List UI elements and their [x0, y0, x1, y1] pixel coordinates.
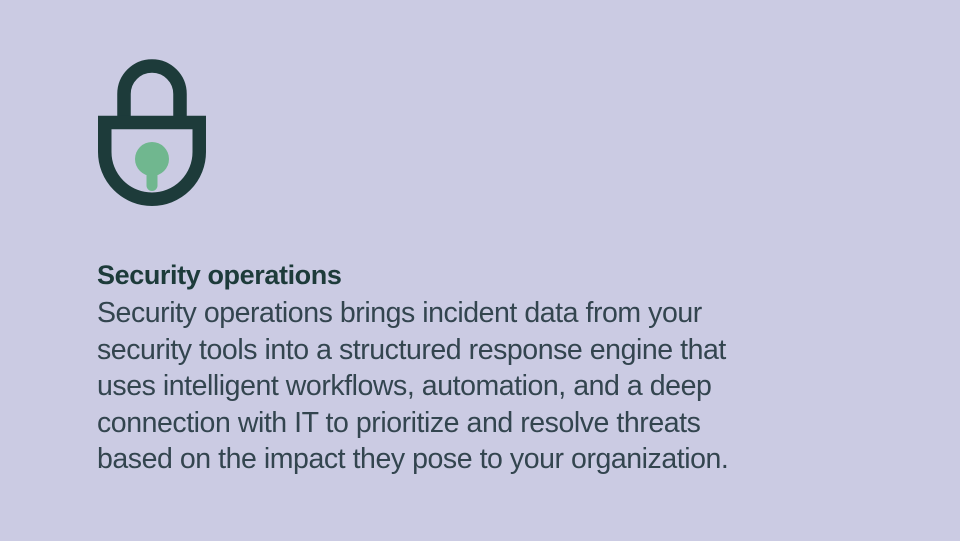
body-line: security tools into a structured respons… — [97, 332, 897, 369]
body-description: Security operations brings incident data… — [97, 295, 897, 478]
body-line: uses intelligent workflows, automation, … — [97, 368, 897, 405]
padlock-icon — [98, 56, 206, 212]
body-line: Security operations brings incident data… — [97, 295, 897, 332]
text-block: Security operations Security operations … — [97, 258, 897, 478]
slide-canvas: Security operations Security operations … — [0, 0, 960, 541]
body-line: based on the impact they pose to your or… — [97, 441, 897, 478]
body-line: connection with IT to prioritize and res… — [97, 405, 897, 442]
page-title: Security operations — [97, 258, 897, 292]
